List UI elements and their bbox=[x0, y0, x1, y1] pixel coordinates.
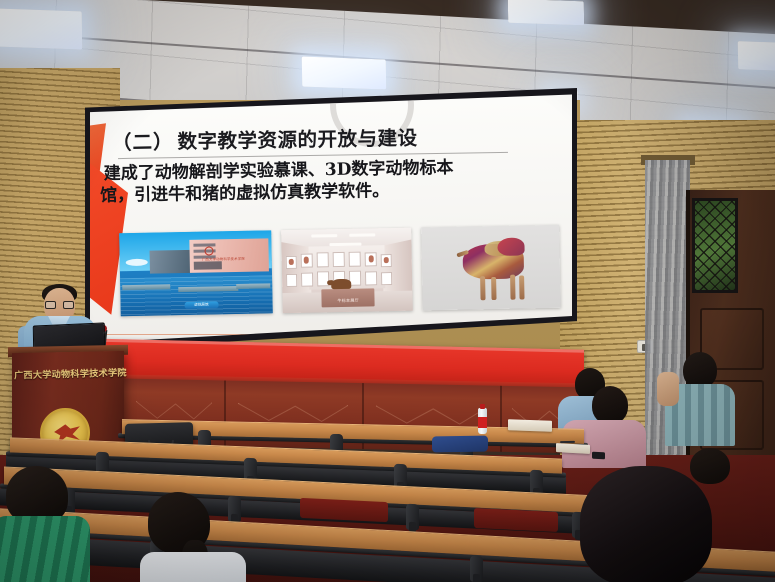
ceiling-light-2 bbox=[508, 0, 584, 25]
building-caption: 广西大学动物科学技术学院 bbox=[202, 256, 245, 262]
specimen-frame bbox=[301, 273, 313, 287]
desk-bracket bbox=[228, 496, 241, 523]
side-building bbox=[150, 250, 193, 274]
pen[interactable] bbox=[560, 441, 575, 443]
blue-bag-on-desk[interactable] bbox=[432, 436, 488, 453]
slide-title: （二）数字教学资源的开放与建设 bbox=[112, 120, 532, 156]
podium-sign: 广西大学动物科学技术学院 bbox=[14, 365, 124, 382]
specimen bbox=[289, 259, 294, 265]
audience-member-long-hair-right bbox=[580, 466, 712, 582]
specimen-frame bbox=[365, 271, 377, 285]
slide-title-number: （二） bbox=[112, 130, 174, 154]
slide-image-row: 广西大学动物科学技术学院 虚拟展馆 bbox=[119, 225, 561, 321]
desk-bracket bbox=[470, 556, 483, 582]
deck bbox=[122, 284, 170, 290]
audience-member-pink-shirt-head bbox=[592, 386, 628, 424]
glasses-icon bbox=[45, 301, 74, 309]
3d-animal-anatomy-model-photo bbox=[421, 225, 561, 311]
slide-surface: （二）数字教学资源的开放与建设 建成了动物解剖学实验慕课、3D数字动物标本 馆，… bbox=[90, 93, 572, 345]
open-notebook[interactable] bbox=[508, 419, 552, 432]
ceiling-light-4 bbox=[738, 41, 775, 71]
specimen-frame bbox=[349, 252, 361, 267]
specimen-frame bbox=[381, 272, 392, 285]
building-badge-label: 虚拟展馆 bbox=[184, 302, 218, 310]
door-grille-icon bbox=[695, 201, 735, 290]
animal-science-building-photo: 广西大学动物科学技术学院 虚拟展馆 bbox=[119, 230, 273, 316]
hall-light bbox=[311, 234, 337, 237]
red-label-water-bottle[interactable] bbox=[478, 408, 487, 434]
specimen bbox=[369, 255, 374, 262]
hall-light bbox=[349, 233, 375, 236]
specimen-frame bbox=[286, 274, 297, 287]
building-badge: 虚拟展馆 bbox=[184, 302, 218, 310]
specimen-frame bbox=[333, 252, 345, 267]
deck bbox=[236, 283, 270, 289]
water bbox=[120, 275, 273, 316]
desk-bracket bbox=[406, 504, 419, 531]
specimen-exhibition-hall-photo: 牛标本展厅 bbox=[281, 228, 413, 313]
ceiling-light-3 bbox=[302, 57, 387, 90]
hall-plinth: 牛标本展厅 bbox=[321, 288, 375, 307]
projection-screen: （二）数字教学资源的开放与建设 建成了动物解剖学实验慕课、3D数字动物标本 馆，… bbox=[85, 88, 577, 350]
anatomy-leg bbox=[491, 277, 496, 300]
bottle-label bbox=[478, 417, 487, 428]
hall-caption: 牛标本展厅 bbox=[321, 298, 374, 305]
ceiling-light-1 bbox=[0, 8, 82, 49]
anatomy-head bbox=[497, 237, 525, 256]
lecture-hall-photo: （二）数字教学资源的开放与建设 建成了动物解剖学实验慕课、3D数字动物标本 馆，… bbox=[0, 0, 775, 582]
open-notebook[interactable] bbox=[556, 443, 590, 454]
folding-auditorium-seat[interactable] bbox=[300, 498, 388, 522]
specimen-frame bbox=[317, 252, 329, 267]
audience-arm-hand-on-chin bbox=[657, 372, 679, 406]
anatomy-leg bbox=[480, 276, 485, 300]
audience-member-green-striped bbox=[0, 516, 90, 582]
audience-member-long-hair-left bbox=[140, 552, 246, 582]
door-window bbox=[692, 198, 738, 293]
audience-member-dark-shirt bbox=[690, 448, 730, 484]
mobile-phone[interactable] bbox=[592, 452, 605, 460]
specimen bbox=[384, 257, 389, 263]
specimen bbox=[304, 257, 309, 264]
slide-title-text: 数字教学资源的开放与建设 bbox=[177, 127, 417, 154]
slide-body-text: 建成了动物解剖学实验慕课、3D数字动物标本 馆，引进牛和猪的虚拟仿真教学软件。 bbox=[104, 155, 557, 208]
anatomy-leg bbox=[519, 275, 524, 299]
bottle-cap bbox=[480, 404, 485, 409]
folding-auditorium-seat[interactable] bbox=[474, 508, 558, 532]
anatomy-leg bbox=[510, 275, 515, 300]
audience-member-plaid-teal bbox=[683, 352, 717, 388]
